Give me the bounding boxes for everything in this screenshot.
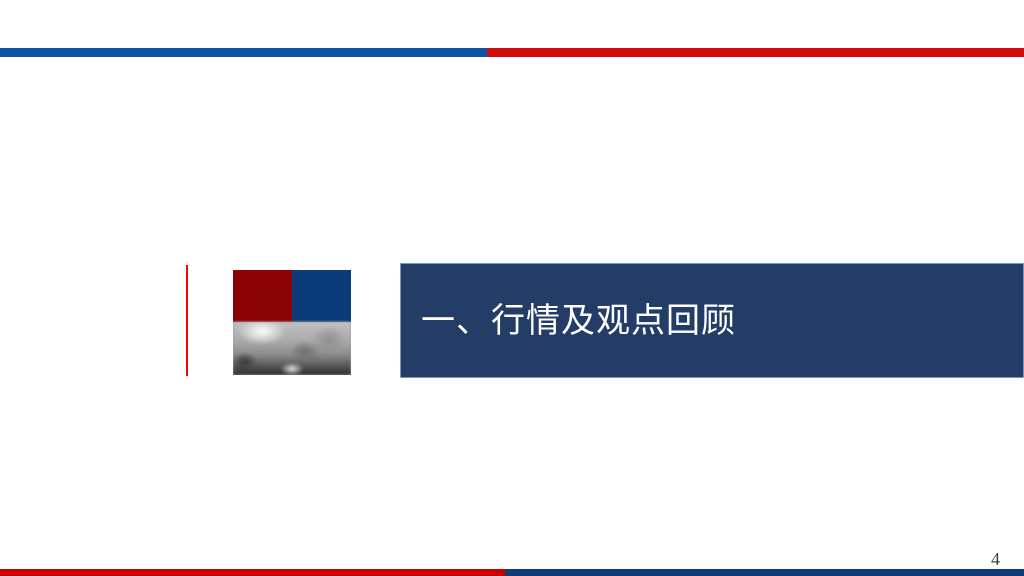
red-accent-line [186,265,188,376]
top-divider-rule [0,48,1024,57]
section-thumbnail-image [233,270,351,375]
presentation-slide: 一、行情及观点回顾 4 [0,0,1024,576]
top-divider-blue-segment [0,48,487,57]
blue-color-block [292,270,351,322]
bottom-divider-blue-segment [505,569,1024,576]
section-header-block: 一、行情及观点回顾 [0,263,1024,378]
section-title-bar: 一、行情及观点回顾 [400,263,1024,378]
red-color-block [233,270,292,322]
page-number: 4 [991,549,1000,569]
bottom-divider-rule [0,569,1024,576]
bottom-divider-red-segment [0,569,505,576]
grayscale-street-photo [233,322,351,375]
top-divider-red-segment [487,48,1024,57]
section-title-text: 一、行情及观点回顾 [401,304,736,338]
thumbnail-color-swatches [233,270,351,322]
